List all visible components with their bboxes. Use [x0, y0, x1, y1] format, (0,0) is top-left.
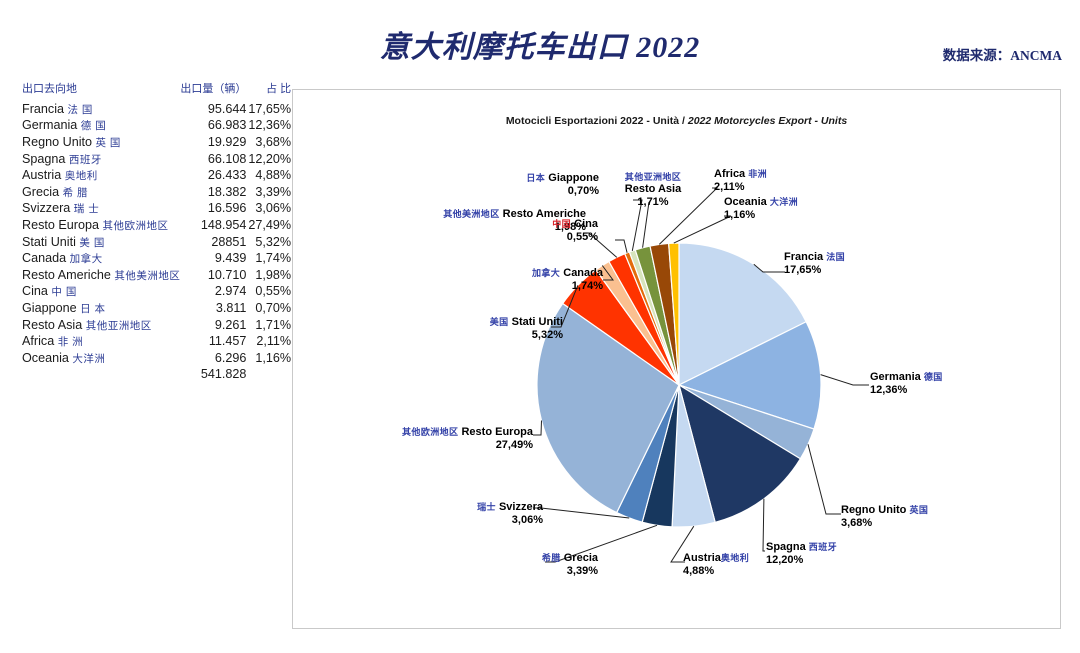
- pie-label-resto-asia-name: Resto Asia: [625, 183, 681, 195]
- pie-label-resto-asia-cn: 其他亚洲地区: [598, 172, 708, 183]
- cell-destination: Giappone 日 本: [22, 300, 180, 317]
- cell-share: 2,11%: [248, 333, 291, 350]
- pie-label-svizzera-pct: 3,06%: [433, 514, 543, 527]
- leader-line: [533, 421, 542, 436]
- pie-label-germania-name: Germania: [870, 371, 921, 383]
- pie-label-cina-pct: 0,55%: [478, 231, 598, 244]
- pie-label-oceania-name: Oceania: [724, 196, 767, 208]
- cell-destination-cn: 其他美洲地区: [114, 270, 180, 282]
- pie-label-francia: Francia 法国 17,65%: [784, 251, 845, 277]
- leader-line: [808, 444, 841, 514]
- cell-destination-it: Oceania: [22, 351, 69, 365]
- pie-label-regno-unito-cn: 英国: [909, 505, 928, 515]
- pie-label-regno-unito: Regno Unito 英国 3,68%: [841, 504, 928, 530]
- cell-share: 1,74%: [248, 250, 291, 267]
- export-data-table: 出口去向地 出口量（辆） 占 比 Francia 法 国95.64417,65%…: [22, 80, 291, 382]
- pie-label-grecia-cn: 希腊: [542, 553, 561, 563]
- cell-share: 27,49%: [248, 217, 291, 234]
- cell-destination-it: Regno Unito: [22, 135, 92, 149]
- pie-label-regno-unito-pct: 3,68%: [841, 517, 928, 530]
- pie-label-giappone-pct: 0,70%: [441, 185, 599, 198]
- cell-destination-it: Resto Americhe: [22, 268, 111, 282]
- cell-destination: Francia 法 国: [22, 101, 180, 118]
- cell-share: 12,20%: [248, 151, 291, 168]
- pie-label-germania: Germania 德国 12,36%: [870, 371, 943, 397]
- col-header-share: 占 比: [248, 80, 291, 101]
- cell-destination: Stati Uniti 美 国: [22, 234, 180, 251]
- cell-destination-it: Svizzera: [22, 201, 70, 215]
- pie-label-austria-pct: 4,88%: [683, 565, 749, 578]
- cell-destination: Germania 德 国: [22, 118, 180, 135]
- cell-destination-cn: 德 国: [81, 120, 106, 132]
- cell-destination-it: Resto Asia: [22, 318, 82, 332]
- cell-total-pct-spacer: [248, 367, 291, 383]
- cell-share: 4,88%: [248, 167, 291, 184]
- cell-destination: Africa 非 洲: [22, 333, 180, 350]
- cell-destination: Svizzera 瑞 士: [22, 201, 180, 218]
- col-header-destination: 出口去向地: [22, 80, 180, 101]
- cell-destination: Resto Americhe 其他美洲地区: [22, 267, 180, 284]
- pie-label-germania-cn: 德国: [924, 372, 943, 382]
- table-row: Stati Uniti 美 国288515,32%: [22, 234, 291, 251]
- pie-label-africa-pct: 2,11%: [714, 181, 767, 194]
- pie-label-giappone-cn: 日本: [526, 173, 545, 183]
- pie-label-svizzera: 瑞士 Svizzera 3,06%: [433, 501, 543, 527]
- pie-label-cina: 中国 Cina 0,55%: [478, 218, 598, 244]
- cell-units: 16.596: [180, 201, 248, 218]
- table-row: Svizzera 瑞 士16.5963,06%: [22, 201, 291, 218]
- pie-label-stati-uniti-name: Stati Uniti: [512, 316, 563, 328]
- leader-line: [674, 216, 731, 243]
- chart-panel: Motocicli Esportazioni 2022 - Unità / 20…: [292, 89, 1061, 629]
- table-header-row: 出口去向地 出口量（辆） 占 比: [22, 80, 291, 101]
- cell-units: 19.929: [180, 134, 248, 151]
- cell-destination-cn: 希 腊: [63, 187, 88, 199]
- cell-units: 95.644: [180, 101, 248, 118]
- pie-label-cina-cn: 中国: [552, 219, 571, 229]
- table-row: Austria 奥地利26.4334,88%: [22, 167, 291, 184]
- table-row: Resto Asia 其他亚洲地区9.2611,71%: [22, 317, 291, 334]
- pie-label-stati-uniti-pct: 5,32%: [403, 329, 563, 342]
- pie-label-grecia-name: Grecia: [564, 552, 598, 564]
- cell-destination-it: Germania: [22, 118, 77, 132]
- table-row: Grecia 希 腊18.3823,39%: [22, 184, 291, 201]
- cell-destination-cn: 大洋洲: [72, 353, 105, 365]
- cell-destination: Grecia 希 腊: [22, 184, 180, 201]
- pie-label-austria-name: Austria: [683, 552, 721, 564]
- cell-destination-it: Francia: [22, 102, 64, 116]
- cell-destination-it: Cina: [22, 284, 48, 298]
- cell-share: 3,06%: [248, 201, 291, 218]
- cell-destination: Canada 加拿大: [22, 250, 180, 267]
- cell-destination-cn: 美 国: [79, 237, 104, 249]
- cell-units: 3.811: [180, 300, 248, 317]
- cell-destination-cn: 其他欧洲地区: [103, 220, 169, 232]
- table-row: Regno Unito 英 国19.9293,68%: [22, 134, 291, 151]
- cell-units: 18.382: [180, 184, 248, 201]
- cell-destination-it: Resto Europa: [22, 218, 99, 232]
- leader-line: [821, 375, 869, 385]
- cell-units: 9.439: [180, 250, 248, 267]
- cell-destination-cn: 日 本: [80, 303, 105, 315]
- cell-destination: Regno Unito 英 国: [22, 134, 180, 151]
- leader-line: [763, 499, 765, 551]
- pie-label-germania-pct: 12,36%: [870, 384, 943, 397]
- pie-label-svizzera-cn: 瑞士: [477, 502, 496, 512]
- pie-label-spagna-cn: 西班牙: [809, 542, 837, 552]
- cell-share: 3,68%: [248, 134, 291, 151]
- table-row: Cina 中 国2.9740,55%: [22, 284, 291, 301]
- pie-chart: 其他美洲地区 Resto Americhe 1,98% 中国 Cina 0,55…: [293, 90, 1062, 630]
- cell-share: 0,70%: [248, 300, 291, 317]
- table-row: Spagna 西班牙66.10812,20%: [22, 151, 291, 168]
- cell-share: 3,39%: [248, 184, 291, 201]
- cell-destination-cn: 其他亚洲地区: [86, 320, 152, 332]
- pie-label-resto-asia: 其他亚洲地区 Resto Asia 1,71%: [598, 172, 708, 209]
- pie-svg: [293, 90, 1062, 630]
- pie-label-regno-unito-name: Regno Unito: [841, 504, 906, 516]
- cell-share: 5,32%: [248, 234, 291, 251]
- cell-share: 1,98%: [248, 267, 291, 284]
- table-row: Francia 法 国95.64417,65%: [22, 101, 291, 118]
- pie-label-africa-name: Africa: [714, 168, 745, 180]
- cell-share: 1,71%: [248, 317, 291, 334]
- pie-label-resto-asia-pct: 1,71%: [598, 196, 708, 209]
- cell-destination-cn: 中 国: [51, 286, 76, 298]
- pie-label-francia-name: Francia: [784, 251, 823, 263]
- cell-units: 10.710: [180, 267, 248, 284]
- cell-destination: Austria 奥地利: [22, 167, 180, 184]
- cell-destination-cn: 奥地利: [65, 170, 98, 182]
- table-row: Africa 非 洲11.4572,11%: [22, 333, 291, 350]
- pie-label-austria: Austria奥地利 4,88%: [683, 552, 749, 578]
- table-row: Resto Americhe 其他美洲地区10.7101,98%: [22, 267, 291, 284]
- cell-destination-cn: 瑞 士: [74, 203, 99, 215]
- pie-label-resto-europa-name: Resto Europa: [461, 426, 533, 438]
- pie-label-spagna-name: Spagna: [766, 541, 806, 553]
- pie-label-francia-cn: 法国: [826, 252, 845, 262]
- pie-label-canada-name: Canada: [563, 267, 603, 279]
- data-source-label: 数据来源：ANCMA: [943, 44, 1062, 64]
- pie-label-cina-name: Cina: [574, 218, 598, 230]
- cell-units: 11.457: [180, 333, 248, 350]
- cell-units: 26.433: [180, 167, 248, 184]
- pie-label-oceania: Oceania 大洋洲 1,16%: [724, 196, 798, 222]
- cell-destination-it: Stati Uniti: [22, 235, 76, 249]
- cell-total-units: 541.828: [180, 367, 248, 383]
- pie-label-stati-uniti: 美国 Stati Uniti 5,32%: [403, 316, 563, 342]
- cell-destination-cn: 英 国: [96, 137, 121, 149]
- cell-destination-it: Giappone: [22, 301, 77, 315]
- cell-destination: Spagna 西班牙: [22, 151, 180, 168]
- table-row: Canada 加拿大9.4391,74%: [22, 250, 291, 267]
- cell-total-spacer: [22, 367, 180, 383]
- cell-destination: Oceania 大洋洲: [22, 350, 180, 367]
- cell-share: 17,65%: [248, 101, 291, 118]
- pie-label-africa: Africa 非洲 2,11%: [714, 168, 767, 194]
- cell-units: 66.983: [180, 118, 248, 135]
- pie-label-canada: 加拿大 Canada 1,74%: [463, 267, 603, 293]
- pie-label-grecia: 希腊 Grecia 3,39%: [498, 552, 598, 578]
- pie-label-francia-pct: 17,65%: [784, 264, 845, 277]
- cell-units: 9.261: [180, 317, 248, 334]
- cell-destination-it: Spagna: [22, 152, 65, 166]
- pie-label-spagna: Spagna 西班牙 12,20%: [766, 541, 837, 567]
- table-row: Oceania 大洋洲6.2961,16%: [22, 350, 291, 367]
- table-row: Resto Europa 其他欧洲地区148.95427,49%: [22, 217, 291, 234]
- cell-destination: Resto Asia 其他亚洲地区: [22, 317, 180, 334]
- cell-destination: Cina 中 国: [22, 284, 180, 301]
- cell-units: 66.108: [180, 151, 248, 168]
- cell-units: 2.974: [180, 284, 248, 301]
- table-body: Francia 法 国95.64417,65%Germania 德 国66.98…: [22, 101, 291, 382]
- pie-label-resto-europa-pct: 27,49%: [381, 439, 533, 452]
- cell-destination-it: Canada: [22, 251, 66, 265]
- page-title: 意大利摩托车出口 2022: [0, 22, 1080, 66]
- pie-label-resto-europa-cn: 其他欧洲地区: [402, 427, 458, 437]
- cell-destination-cn: 西班牙: [69, 154, 102, 166]
- leader-line: [615, 240, 627, 253]
- pie-label-africa-cn: 非洲: [748, 169, 767, 179]
- pie-label-stati-uniti-cn: 美国: [490, 317, 509, 327]
- pie-label-canada-pct: 1,74%: [463, 280, 603, 293]
- pie-label-oceania-pct: 1,16%: [724, 209, 798, 222]
- cell-destination-it: Africa: [22, 334, 54, 348]
- cell-share: 1,16%: [248, 350, 291, 367]
- col-header-units: 出口量（辆）: [180, 80, 248, 101]
- table-total-row: 541.828: [22, 367, 291, 383]
- cell-destination-cn: 法 国: [68, 104, 93, 116]
- pie-label-svizzera-name: Svizzera: [499, 501, 543, 513]
- pie-label-grecia-pct: 3,39%: [498, 565, 598, 578]
- cell-share: 12,36%: [248, 118, 291, 135]
- cell-share: 0,55%: [248, 284, 291, 301]
- cell-units: 6.296: [180, 350, 248, 367]
- cell-units: 28851: [180, 234, 248, 251]
- table-row: Giappone 日 本3.8110,70%: [22, 300, 291, 317]
- cell-destination-it: Grecia: [22, 185, 59, 199]
- cell-destination-it: Austria: [22, 168, 61, 182]
- cell-destination: Resto Europa 其他欧洲地区: [22, 217, 180, 234]
- pie-label-resto-europa: 其他欧洲地区 Resto Europa 27,49%: [381, 426, 533, 452]
- pie-label-giappone-name: Giappone: [548, 172, 599, 184]
- pie-label-austria-cn: 奥地利: [721, 553, 749, 563]
- pie-label-canada-cn: 加拿大: [532, 268, 560, 278]
- pie-label-oceania-cn: 大洋洲: [770, 197, 798, 207]
- pie-label-giappone: 日本 Giappone 0,70%: [441, 172, 599, 198]
- table-row: Germania 德 国66.98312,36%: [22, 118, 291, 135]
- cell-destination-cn: 非 洲: [58, 336, 83, 348]
- cell-destination-cn: 加拿大: [70, 253, 103, 265]
- pie-label-spagna-pct: 12,20%: [766, 554, 803, 566]
- cell-units: 148.954: [180, 217, 248, 234]
- page-root: 意大利摩托车出口 2022 数据来源：ANCMA 出口去向地 出口量（辆） 占 …: [0, 0, 1080, 653]
